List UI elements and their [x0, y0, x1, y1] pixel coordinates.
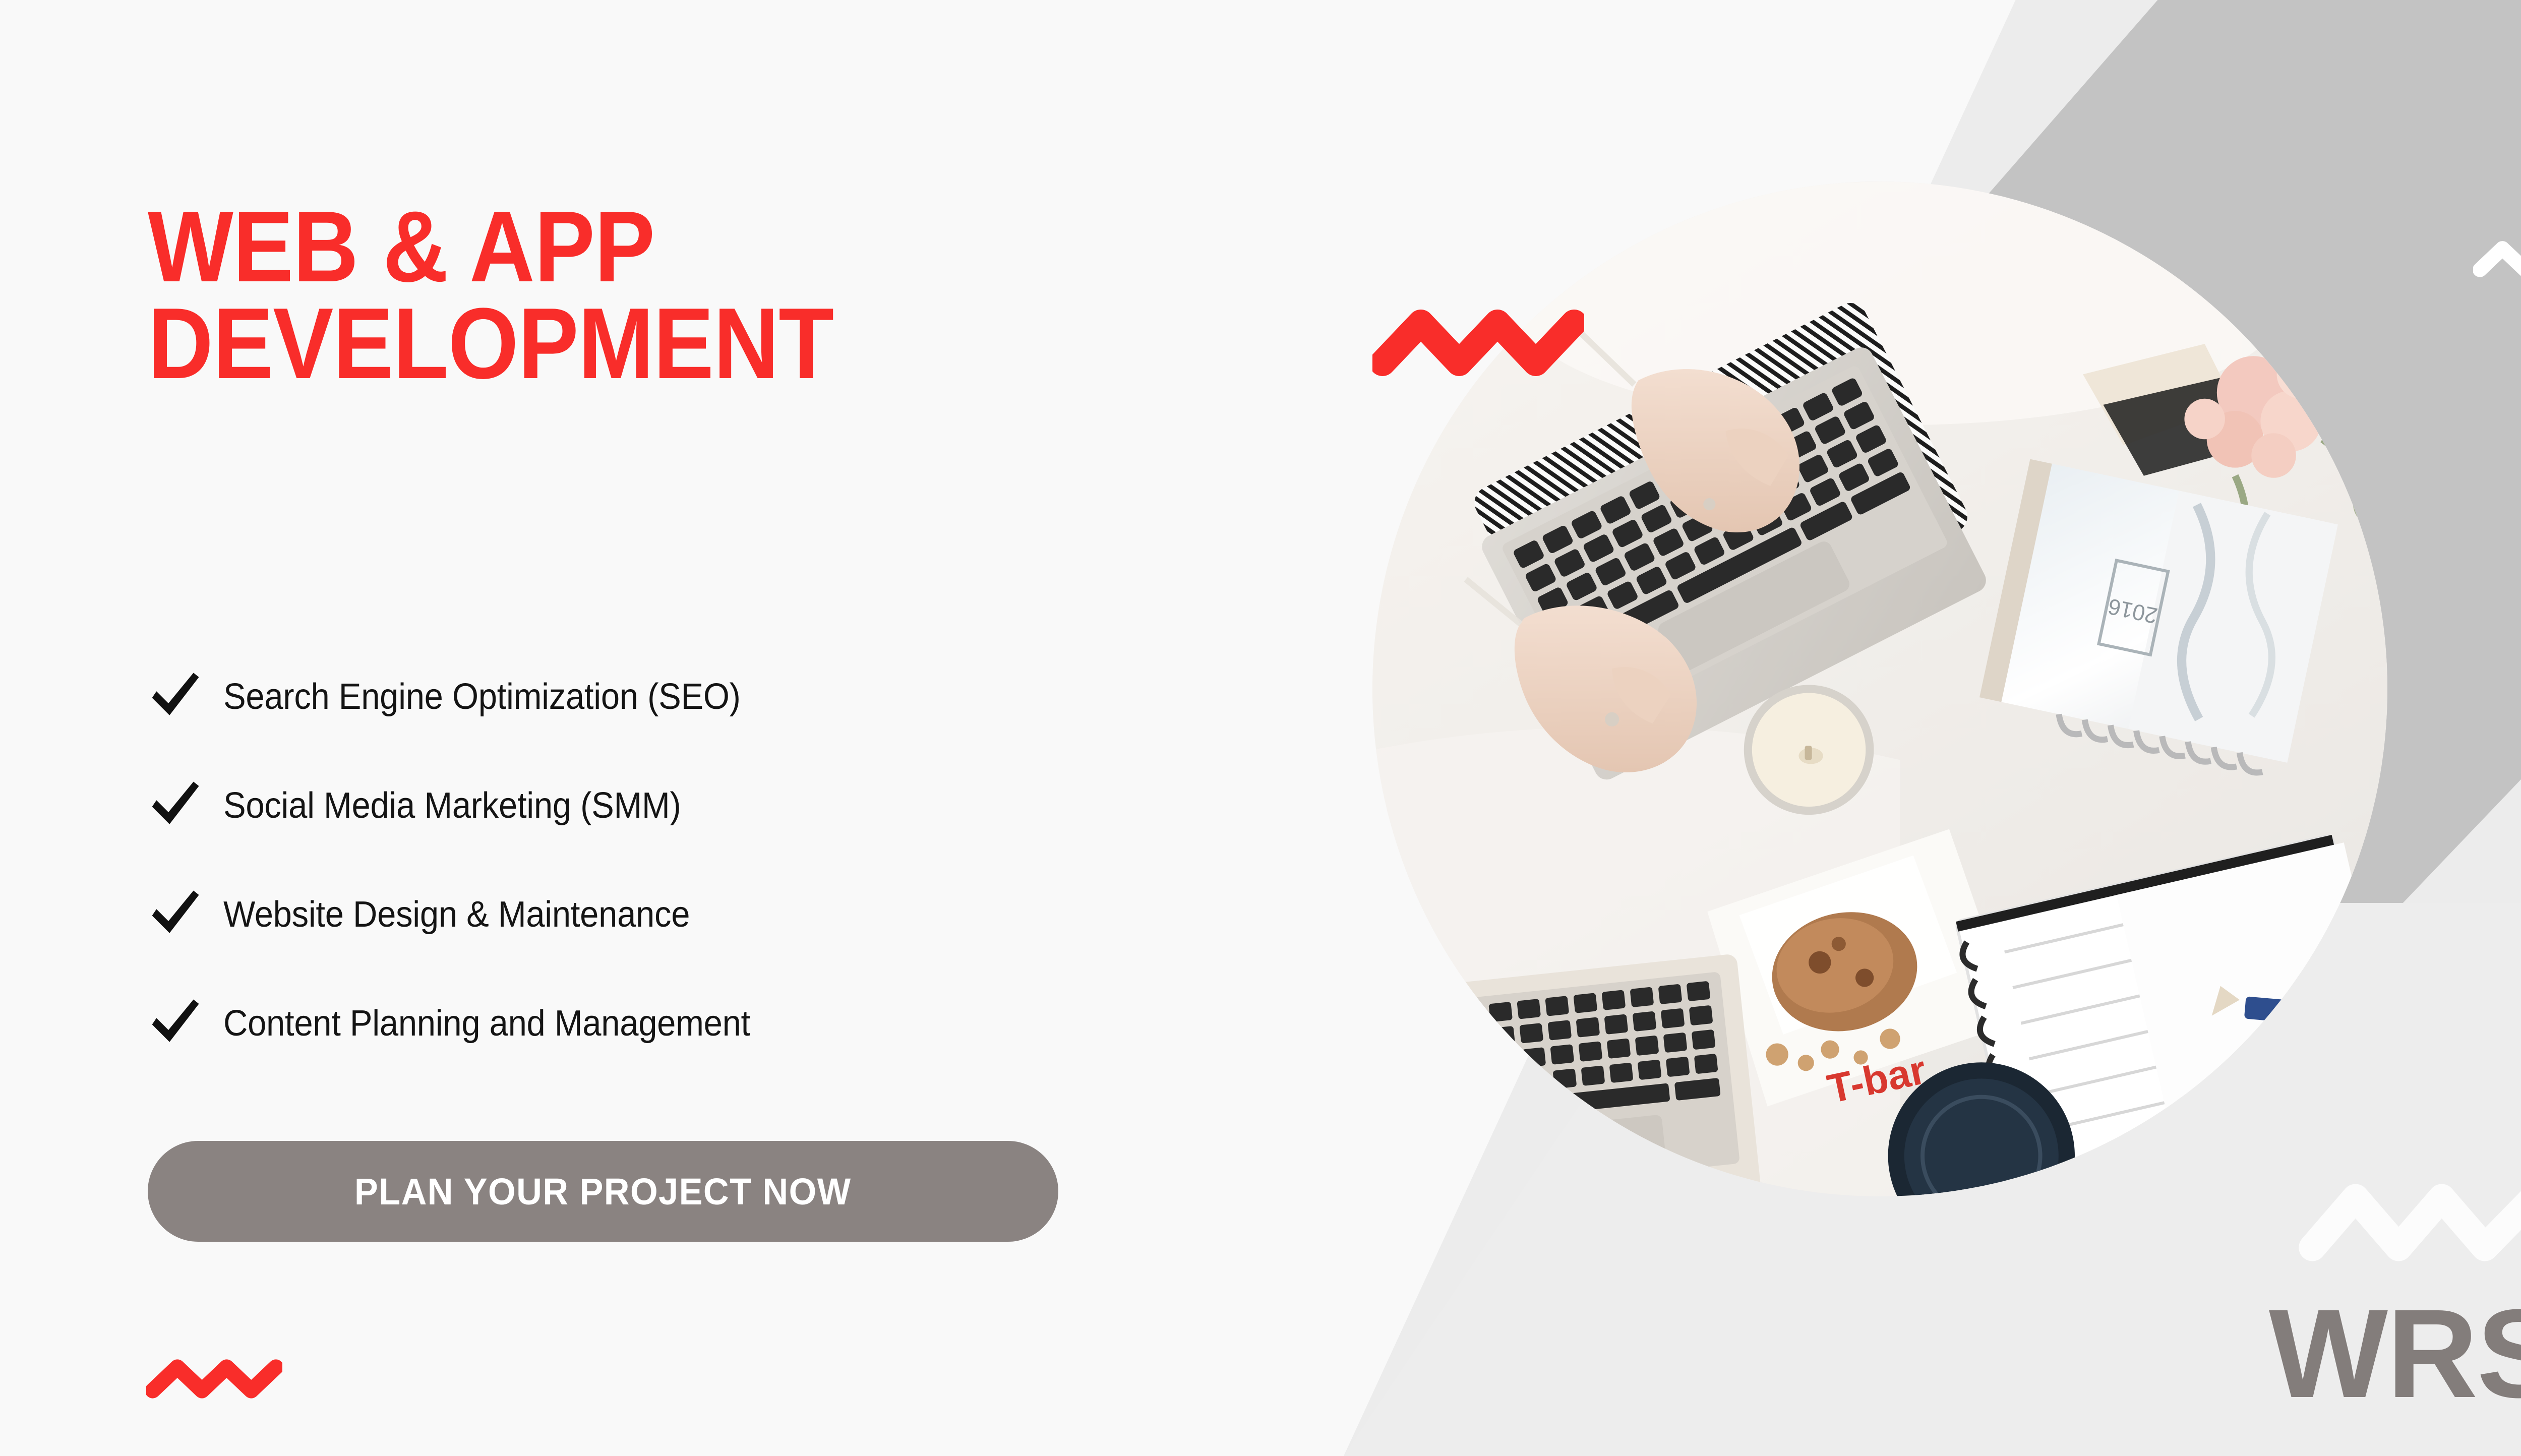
cta-label: PLAN YOUR PROJECT NOW [354, 1170, 852, 1213]
check-icon [148, 996, 223, 1051]
feature-label: Search Engine Optimization (SEO) [223, 676, 741, 717]
feature-label: Social Media Marketing (SMM) [223, 785, 681, 826]
brand-logo: WRS [2269, 1291, 2521, 1417]
page-title: WEB & APP DEVELOPMENT [148, 199, 1237, 392]
check-icon [148, 887, 223, 942]
zigzag-white-top-right-icon [2473, 229, 2521, 290]
plan-your-project-button[interactable]: PLAN YOUR PROJECT NOW [148, 1141, 1058, 1242]
zigzag-red-bottom-icon [146, 1351, 282, 1407]
feature-label: Content Planning and Management [223, 1003, 750, 1044]
list-item: Content Planning and Management [148, 969, 1257, 1078]
list-item: Search Engine Optimization (SEO) [148, 642, 1257, 751]
zigzag-red-top-icon [1372, 302, 1584, 383]
feature-label: Website Design & Maintenance [223, 894, 690, 935]
list-item: Website Design & Maintenance [148, 860, 1257, 969]
marketing-banner: 2016 [0, 0, 2521, 1456]
check-icon [148, 670, 223, 724]
content-column: WEB & APP DEVELOPMENT Search Engine Opti… [148, 199, 1358, 392]
zigzag-white-bottom-right-icon [2246, 1177, 2521, 1268]
feature-list: Search Engine Optimization (SEO) Social … [148, 642, 1257, 1078]
list-item: Social Media Marketing (SMM) [148, 751, 1257, 860]
check-icon [148, 778, 223, 833]
